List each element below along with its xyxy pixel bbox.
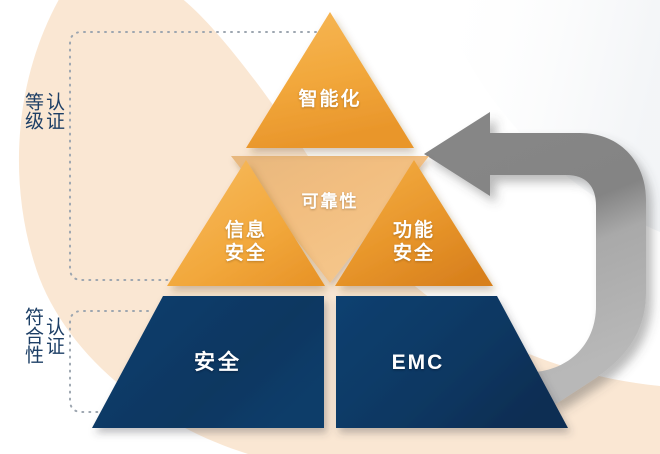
band-label-grade: 等级 认证 <box>22 92 64 130</box>
diagram-graphics <box>0 0 660 454</box>
band-label-grade-line-1: 认证 <box>43 92 64 130</box>
band-label-conformity: 符合性 认证 <box>22 307 64 364</box>
band-label-conformity-line-0: 符合性 <box>22 307 43 364</box>
apex-triangle <box>246 12 414 148</box>
diagram-canvas: 等级 认证 符合性 认证 智能化 可靠性 信息 安全 功能 安全 安全 EMC <box>0 0 660 454</box>
band-label-grade-line-0: 等级 <box>22 92 43 130</box>
band-label-conformity-line-1: 认证 <box>43 307 64 364</box>
